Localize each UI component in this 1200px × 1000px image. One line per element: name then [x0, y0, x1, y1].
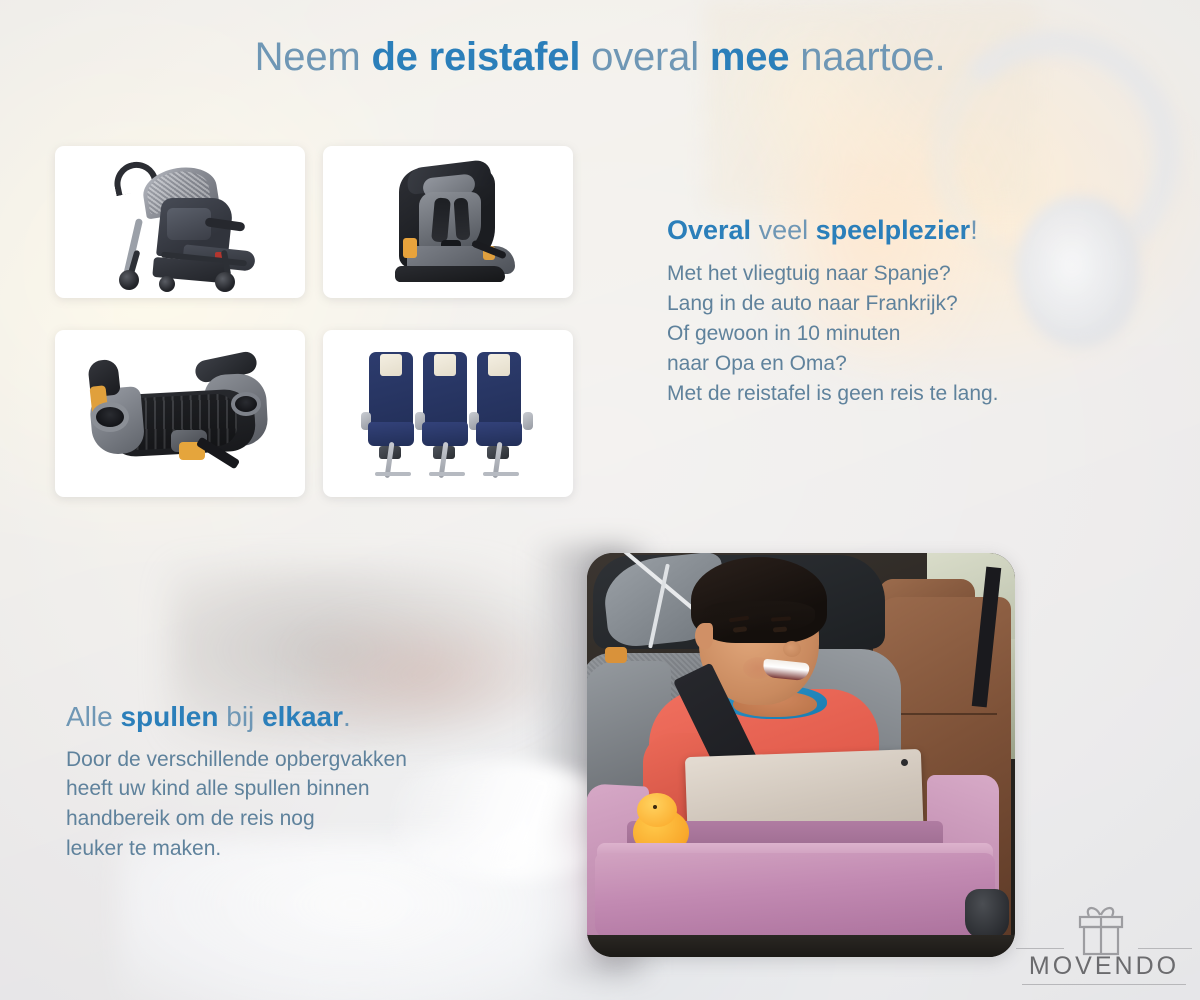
left-body-line-4: leuker te maken. — [66, 834, 536, 864]
product-card-booster-seat[interactable] — [55, 330, 305, 497]
left-body-line-2: heeft uw kind alle spullen binnen — [66, 774, 536, 804]
logo-rule-bottom — [1022, 984, 1186, 985]
left-body-line-1: Door de verschillende opbergvakken — [66, 745, 536, 775]
hero-photo — [587, 553, 1015, 957]
left-heading-bold-1: spullen — [120, 701, 218, 732]
right-heading-mid: veel — [751, 215, 816, 245]
logo-wordmark: MOVENDO — [1016, 952, 1192, 981]
left-heading-mid: bij — [218, 701, 262, 732]
logo-rule-right — [1138, 948, 1192, 949]
booster-seat-icon — [55, 330, 305, 497]
left-text-block: Alle spullen bij elkaar. Door de verschi… — [66, 700, 536, 864]
hero-photo-scene — [587, 553, 1015, 957]
right-heading-end: ! — [970, 215, 978, 245]
right-heading-bold-2: speelplezier — [816, 215, 971, 245]
stroller-icon — [55, 146, 305, 298]
right-body-line-3: Of gewoon in 10 minuten — [667, 319, 1137, 349]
right-text-block: Overal veel speelplezier! Met het vliegt… — [667, 214, 1137, 408]
right-body-line-5: Met de reistafel is geen reis te lang. — [667, 379, 1137, 409]
headline-bold-1: de reistafel — [371, 35, 580, 79]
headline-bold-2: mee — [710, 35, 789, 79]
product-card-airplane-seats[interactable] — [323, 330, 573, 497]
left-heading-bold-2: elkaar — [262, 701, 343, 732]
banner-headline: Neem de reistafel overal mee naartoe. — [0, 34, 1200, 80]
headline-part-3: naartoe. — [789, 35, 945, 79]
headline-part-1: Neem — [255, 35, 372, 79]
right-body-line-2: Lang in de auto naar Frankrijk? — [667, 289, 1137, 319]
logo-rule-left — [1016, 948, 1064, 949]
airplane-seats-icon — [323, 330, 573, 497]
left-block-body: Door de verschillende opbergvakken heeft… — [66, 745, 536, 864]
right-block-heading: Overal veel speelplezier! — [667, 214, 1137, 246]
left-heading-end: . — [343, 701, 351, 732]
car-seat-icon — [323, 146, 573, 298]
right-body-line-1: Met het vliegtuig naar Spanje? — [667, 259, 1137, 289]
right-block-body: Met het vliegtuig naar Spanje? Lang in d… — [667, 259, 1137, 408]
movendo-logo: MOVENDO — [1016, 904, 1192, 986]
left-block-heading: Alle spullen bij elkaar. — [66, 700, 536, 734]
right-heading-bold-1: Overal — [667, 215, 751, 245]
left-body-line-3: handbereik om de reis nog — [66, 804, 536, 834]
product-card-car-seat[interactable] — [323, 146, 573, 298]
gift-box-icon — [1064, 904, 1138, 956]
right-body-line-4: naar Opa en Oma? — [667, 349, 1137, 379]
left-heading-start: Alle — [66, 701, 120, 732]
product-card-stroller[interactable] — [55, 146, 305, 298]
headline-part-2: overal — [580, 35, 710, 79]
promo-banner: Neem de reistafel overal mee naartoe. — [0, 0, 1200, 1000]
